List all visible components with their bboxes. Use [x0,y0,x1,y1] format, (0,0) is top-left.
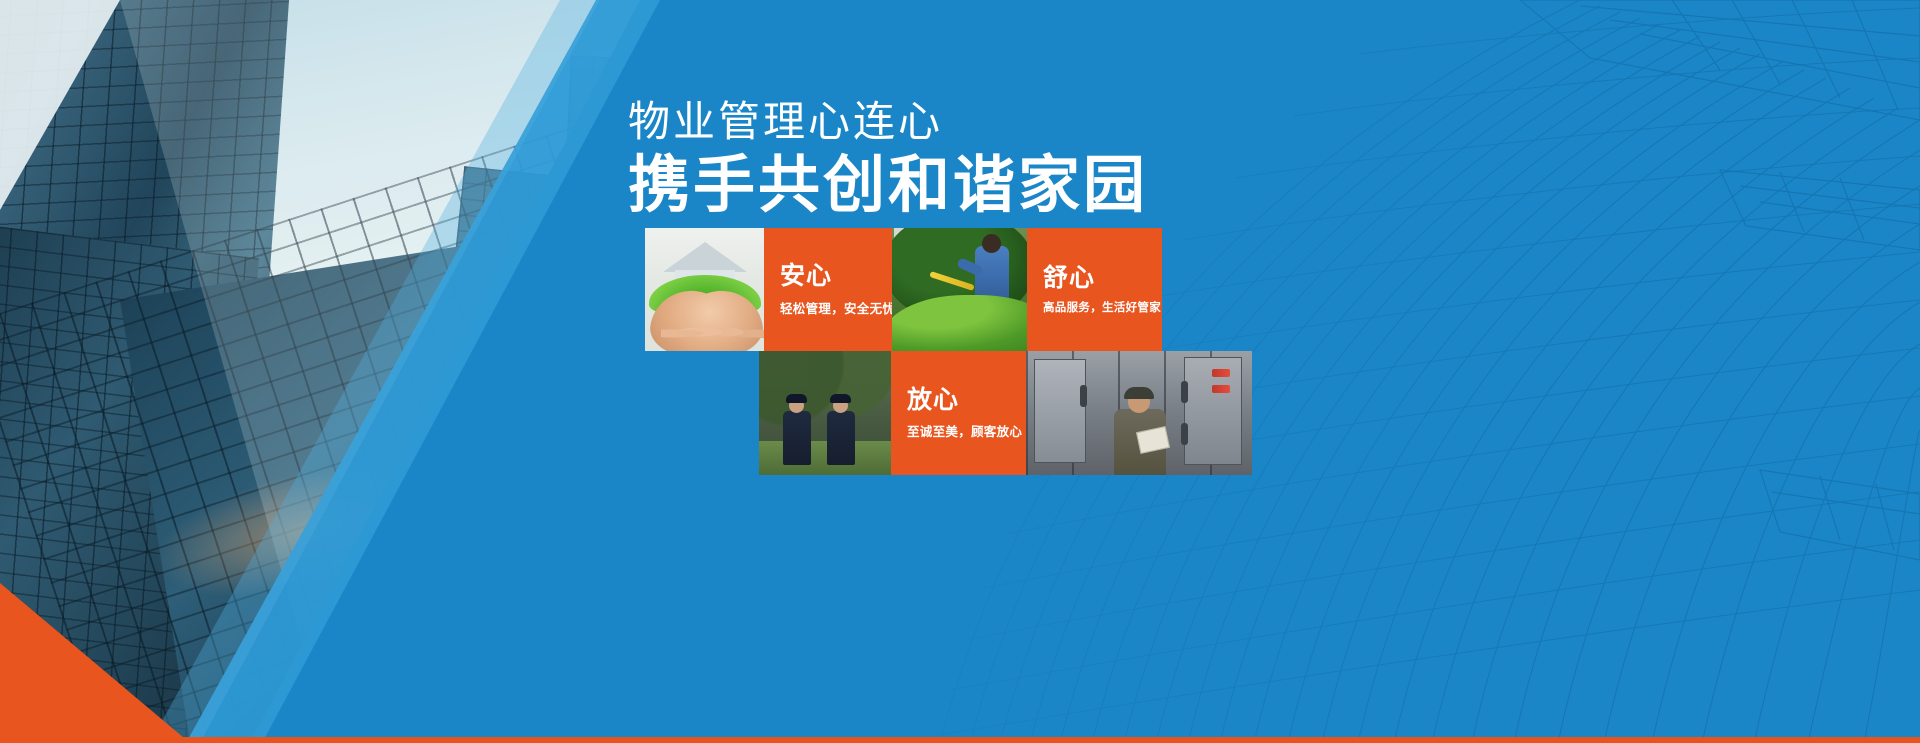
bottom-accent-bar [0,737,1920,743]
card-title-shuxin: 舒心 [1043,264,1162,292]
card-title-fangxin: 放心 [907,386,1026,414]
photo-security-guards [759,351,891,475]
banner-headline: 携手共创和谐家园 [628,152,1188,217]
card-subtitle-fangxin: 至诚至美，顾客放心 [907,421,1026,440]
property-management-banner: 物业管理心连心 携手共创和谐家园 安心 轻松管理，安全无忧 [0,0,1920,743]
feature-row-top: 安心 轻松管理，安全无忧 舒心 高品服务，生活好管家 [645,228,1252,351]
card-title-anxin: 安心 [780,262,892,290]
card-subtitle-shuxin: 高品服务，生活好管家 [1043,299,1162,315]
feature-card-anxin[interactable]: 安心 轻松管理，安全无忧 [764,228,892,351]
feature-card-shuxin[interactable]: 舒心 高品服务，生活好管家 [1027,228,1162,351]
card-subtitle-anxin: 轻松管理，安全无忧 [780,298,892,317]
grid-spacer-bottom-left [645,351,759,475]
feature-row-bottom: 放心 至诚至美，顾客放心 [645,351,1252,475]
feature-card-grid: 安心 轻松管理，安全无忧 舒心 高品服务，生活好管家 [645,228,1252,475]
photo-electrician [1026,351,1252,475]
photo-gardener [892,228,1027,351]
banner-kicker: 物业管理心连心 [628,100,1188,144]
photo-house-in-hands [645,228,764,351]
orange-corner-accent [0,553,210,743]
feature-card-fangxin[interactable]: 放心 至诚至美，顾客放心 [891,351,1026,475]
grid-spacer-top-right [1162,228,1252,351]
headline-block: 物业管理心连心 携手共创和谐家园 [628,100,1188,217]
